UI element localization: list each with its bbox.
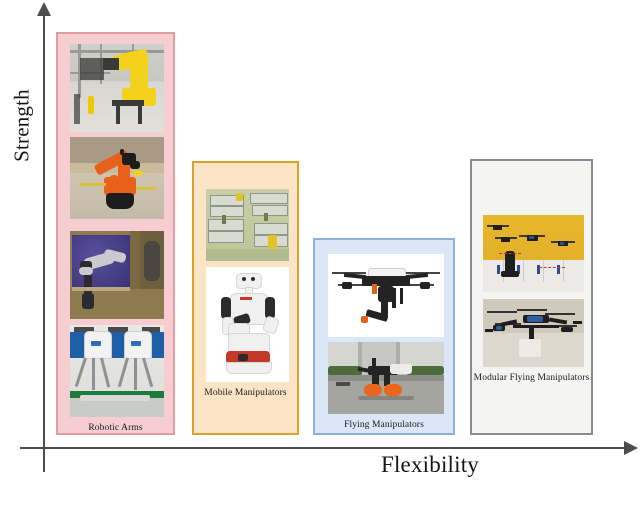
- category-label-robotic-arms: Robotic Arms: [58, 423, 173, 433]
- category-label-mobile-manipulators: Mobile Manipulators: [194, 388, 297, 398]
- thumbnail-drone-landing-street: [328, 342, 444, 414]
- x-axis-arrowhead: [624, 441, 638, 455]
- category-column-flying-manipulators[interactable]: Flying Manipulators: [313, 238, 455, 435]
- thumbnail-humanoid-arm-purple-backdrop: [70, 231, 164, 319]
- category-column-mobile-manipulators[interactable]: Mobile Manipulators: [192, 161, 299, 435]
- thumbnail-yellow-industrial-arm: [70, 44, 164, 132]
- thumbnail-orange-industrial-arm: [70, 137, 164, 219]
- category-label-modular-flying-manipulators: Modular Flying Manipulators: [472, 373, 591, 383]
- thumbnail-warehouse-agv-fleet: [206, 189, 289, 261]
- x-axis-label: Flexibility: [330, 452, 530, 478]
- y-axis-line: [43, 14, 45, 472]
- thumbnail-drones-yellow-wall: [483, 215, 584, 292]
- category-label-flying-manipulators: Flying Manipulators: [315, 420, 453, 430]
- category-column-modular-flying-manipulators[interactable]: Modular Flying Manipulators: [470, 159, 593, 435]
- y-axis-label: Strength: [10, 71, 35, 181]
- thumbnail-aerial-manipulator-white-bg: [328, 254, 444, 337]
- x-axis-line: [20, 447, 628, 449]
- figure-canvas: Strength Flexibility: [0, 0, 640, 514]
- thumbnail-blue-white-delta-robots: [70, 325, 164, 417]
- thumbnail-modular-aerial-structure: [483, 299, 584, 367]
- y-axis-arrowhead: [37, 2, 51, 16]
- thumbnail-white-humanoid-mobile-manipulator: [206, 267, 289, 382]
- category-column-robotic-arms[interactable]: Robotic Arms: [56, 32, 175, 435]
